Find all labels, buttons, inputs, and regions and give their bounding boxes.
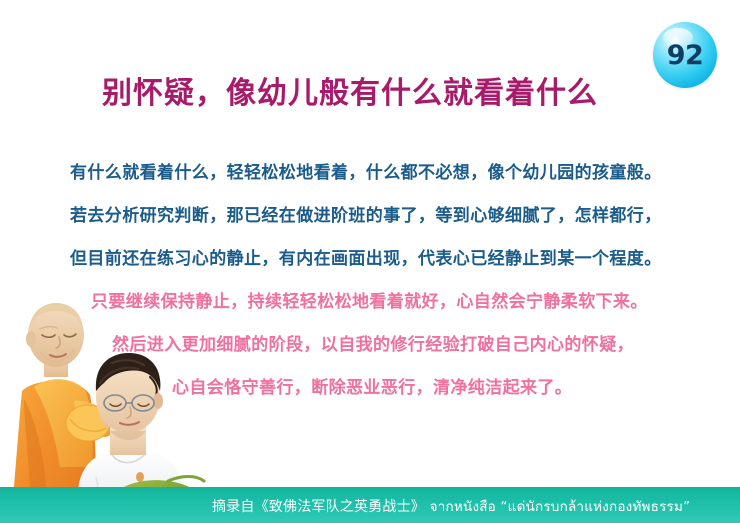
footer-attribution-thai: จากหนังสือ “แด่นักรบกล้าแห่งกองทัพธรรม” [430, 499, 691, 515]
footer-attribution: 摘录自《致佛法军队之英勇战士》 จากหนังสือ “แด่นักรบกล้า… [212, 495, 690, 517]
body-line-3: 但目前还在练习心的静止，有内在画面出现，代表心已经静止到某一个程度。 [0, 246, 740, 289]
footer-band: 摘录自《致佛法军队之英勇战士》 จากหนังสือ “แด่นักรบกล้า… [0, 487, 740, 523]
slide-canvas: 92 别怀疑，像幼儿般有什么就看着什么 有什么就看着什么，轻轻松松地看着，什么都… [0, 0, 740, 523]
footer-attribution-chinese: 摘录自《致佛法军队之英勇战士》 [212, 499, 425, 515]
body-line-2: 若去分析研究判断，那已经在做进阶班的事了，等到心够细腻了，怎样都行， [0, 203, 740, 246]
page-title: 别怀疑，像幼儿般有什么就看着什么 [0, 68, 700, 112]
body-line-1: 有什么就看着什么，轻轻松松地看着，什么都不必想，像个幼儿园的孩童般。 [0, 160, 740, 203]
page-number-label: 92 [667, 42, 704, 69]
